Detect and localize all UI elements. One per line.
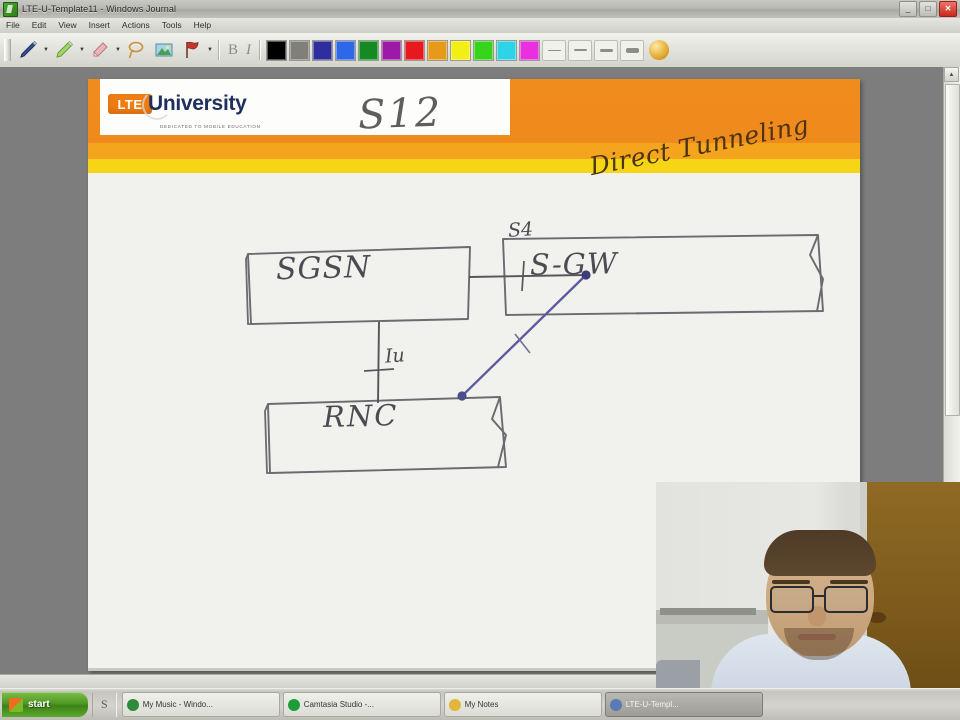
image-icon (154, 40, 174, 60)
menu-item-file[interactable]: File (0, 18, 26, 33)
taskbar: start S My Music - Windo... Camtasia Stu… (0, 688, 960, 720)
task-label-camtasia: Camtasia Studio -... (304, 700, 374, 709)
journal-icon (3, 2, 18, 17)
task-button-my-notes[interactable]: My Notes (444, 692, 602, 717)
toolbar-separator-2 (259, 40, 261, 60)
pen-width-thin[interactable] (568, 40, 592, 61)
menu-item-tools[interactable]: Tools (156, 18, 188, 33)
menu-bar: File Edit View Insert Actions Tools Help (0, 18, 960, 34)
task-button-camtasia[interactable]: Camtasia Studio -... (283, 692, 441, 717)
flag-dropdown-caret[interactable]: ▼ (206, 38, 214, 62)
windows-flag-icon (9, 698, 23, 712)
color-swatch-blue[interactable] (335, 40, 356, 61)
windows-journal-app: LTE-U-Template11 - Windows Journal _ □ ✕… (0, 0, 960, 720)
color-swatch-yellow[interactable] (450, 40, 471, 61)
italic-button[interactable]: I (242, 42, 255, 59)
highlighter-icon (53, 39, 75, 61)
task-button-lte-template[interactable]: LTE-U-Templ... (605, 692, 763, 717)
menu-item-actions[interactable]: Actions (116, 18, 156, 33)
node-label-rnc: RNC (323, 398, 399, 434)
pen-width-medium[interactable] (594, 40, 618, 61)
vertical-scroll-thumb[interactable] (945, 84, 960, 416)
pen-width-thick[interactable] (620, 40, 644, 61)
maximize-button[interactable]: □ (919, 1, 937, 17)
color-swatch-orange[interactable] (427, 40, 448, 61)
highlighter-dropdown-caret[interactable]: ▼ (78, 38, 86, 62)
glasses-icon (768, 586, 872, 610)
menu-item-edit[interactable]: Edit (26, 18, 53, 33)
eraser-tool-button[interactable] (86, 36, 114, 64)
lasso-select-tool-button[interactable] (122, 36, 150, 64)
pen-tool-button[interactable] (14, 36, 42, 64)
task-icon-my-music (127, 699, 139, 711)
start-button[interactable]: start (2, 692, 88, 717)
color-swatch-lime[interactable] (473, 40, 494, 61)
webcam-eyebrow-right (830, 580, 868, 584)
scroll-up-arrow-icon[interactable]: ▲ (944, 67, 959, 82)
insert-image-tool-button[interactable] (150, 36, 178, 64)
menu-item-view[interactable]: View (52, 18, 82, 33)
task-label-lte-template: LTE-U-Templ... (626, 700, 679, 709)
quick-launch-journal-icon[interactable]: S (97, 697, 112, 712)
color-swatch-cyan[interactable] (496, 40, 517, 61)
task-label-my-music: My Music - Windo... (143, 700, 213, 709)
lasso-icon (125, 39, 147, 61)
quick-launch-bar: S (92, 693, 117, 717)
menu-item-insert[interactable]: Insert (83, 18, 116, 33)
toolbar-separator-1 (218, 40, 220, 60)
flag-tool-button[interactable] (178, 36, 206, 64)
pen-width-hairline[interactable] (542, 40, 566, 61)
color-swatch-magenta[interactable] (519, 40, 540, 61)
highlighter-tool-button[interactable] (50, 36, 78, 64)
window-title: LTE-U-Template11 - Windows Journal (22, 4, 176, 14)
minimize-icon: _ (900, 2, 916, 16)
link-s12 (457, 270, 590, 400)
color-swatch-green[interactable] (358, 40, 379, 61)
task-icon-lte-template (610, 699, 622, 711)
close-icon: ✕ (940, 2, 956, 16)
webcam-mouth (798, 634, 836, 640)
task-list: My Music - Windo... Camtasia Studio -...… (122, 692, 960, 717)
color-swatch-gray[interactable] (289, 40, 310, 61)
link-label-iu: Iu (384, 344, 405, 367)
color-swatch-navy[interactable] (312, 40, 333, 61)
pen-icon (17, 39, 39, 61)
title-bar: LTE-U-Template11 - Windows Journal _ □ ✕ (0, 0, 960, 19)
webcam-hair (764, 530, 876, 576)
task-icon-camtasia (288, 699, 300, 711)
color-swatch-black[interactable] (266, 40, 287, 61)
eraser-icon (89, 39, 111, 61)
task-button-my-music[interactable]: My Music - Windo... (122, 692, 280, 717)
node-label-sgw: S-GW (530, 246, 618, 282)
toolbar: ▼ ▼ ▼ (0, 33, 960, 69)
menu-item-help[interactable]: Help (188, 18, 217, 33)
eraser-dropdown-caret[interactable]: ▼ (114, 38, 122, 62)
ink-color-icon[interactable] (649, 40, 669, 60)
webcam-eyebrow-left (772, 580, 810, 584)
minimize-button[interactable]: _ (899, 1, 917, 17)
color-swatch-purple[interactable] (381, 40, 402, 61)
window-controls: _ □ ✕ (899, 1, 957, 17)
webcam-lens-right (824, 586, 868, 613)
task-label-my-notes: My Notes (465, 700, 499, 709)
flag-icon (181, 39, 203, 61)
presenter-video-overlay (656, 482, 960, 694)
start-button-label: start (28, 699, 50, 710)
toolbar-grip[interactable] (4, 39, 11, 61)
color-swatch-red[interactable] (404, 40, 425, 61)
bold-button[interactable]: B (224, 42, 242, 59)
link-label-s4: S4 (507, 218, 534, 242)
node-label-sgsn: SGSN (276, 250, 372, 287)
pen-dropdown-caret[interactable]: ▼ (42, 38, 50, 62)
webcam-lens-left (770, 586, 814, 613)
webcam-shelf (660, 608, 756, 615)
close-button[interactable]: ✕ (939, 1, 957, 17)
task-icon-my-notes (449, 699, 461, 711)
maximize-icon: □ (920, 2, 936, 16)
